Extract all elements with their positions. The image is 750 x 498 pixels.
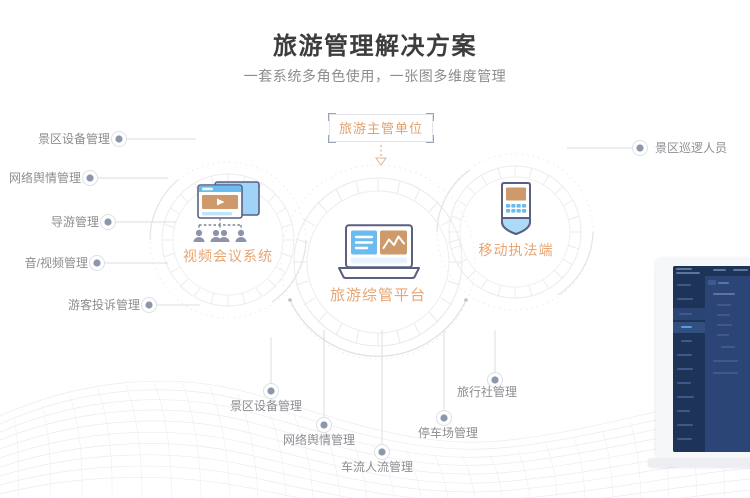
dashboard-topbar [673,266,750,276]
laptop-lid [656,258,750,460]
label-travel-agency-management[interactable]: 旅行社管理 [457,386,517,398]
label-tourist-complaint-management[interactable]: 游客投诉管理 [0,299,140,311]
mobile-enforcement-label: 移动执法端 [466,243,566,257]
authority-badge-label: 旅游主管单位 [339,122,423,135]
laptop-dashboard-icon [336,224,422,280]
label-scenic-equipment-management[interactable]: 景区设备管理 [0,133,110,145]
label-scenic-patrol-staff[interactable]: 景区巡逻人员 [655,142,727,154]
label-scenic-equipment-management-bottom[interactable]: 景区设备管理 [230,400,302,412]
dashboard-content [705,276,750,452]
bracket-corner-bottom-right-icon [426,135,434,143]
bracket-corner-bottom-left-icon [328,135,336,143]
label-parking-lot-management[interactable]: 停车场管理 [418,427,478,439]
platform-label: 旅游综管平台 [318,288,438,303]
page-title: 旅游管理解决方案 [0,26,750,61]
video-conference-label: 视频会议系统 [168,249,288,263]
authority-badge-box: 旅游主管单位 [329,114,433,142]
solution-diagram-page: 旅游管理解决方案 一套系统多角色使用，一张图多维度管理 [0,0,750,498]
dashboard-sidebar [673,276,705,452]
label-network-opinion-management-bottom[interactable]: 网络舆情管理 [283,434,355,446]
page-subtitle: 一套系统多角色使用，一张图多维度管理 [0,66,750,86]
dashboard-screen [673,266,750,452]
label-tour-guide-management[interactable]: 导游管理 [0,216,99,228]
video-conference-icon [186,180,270,245]
bracket-corner-top-right-icon [426,113,434,121]
authority-badge[interactable]: 旅游主管单位 [329,114,433,142]
handheld-device-icon [496,182,536,240]
label-audio-video-management[interactable]: 音/视频管理 [0,257,88,269]
bracket-corner-top-left-icon [328,113,336,121]
label-network-opinion-management[interactable]: 网络舆情管理 [0,172,81,184]
laptop-base [648,458,750,467]
laptop-dashboard-mockup[interactable] [648,258,750,488]
label-traffic-flow-management[interactable]: 车流人流管理 [341,461,413,473]
